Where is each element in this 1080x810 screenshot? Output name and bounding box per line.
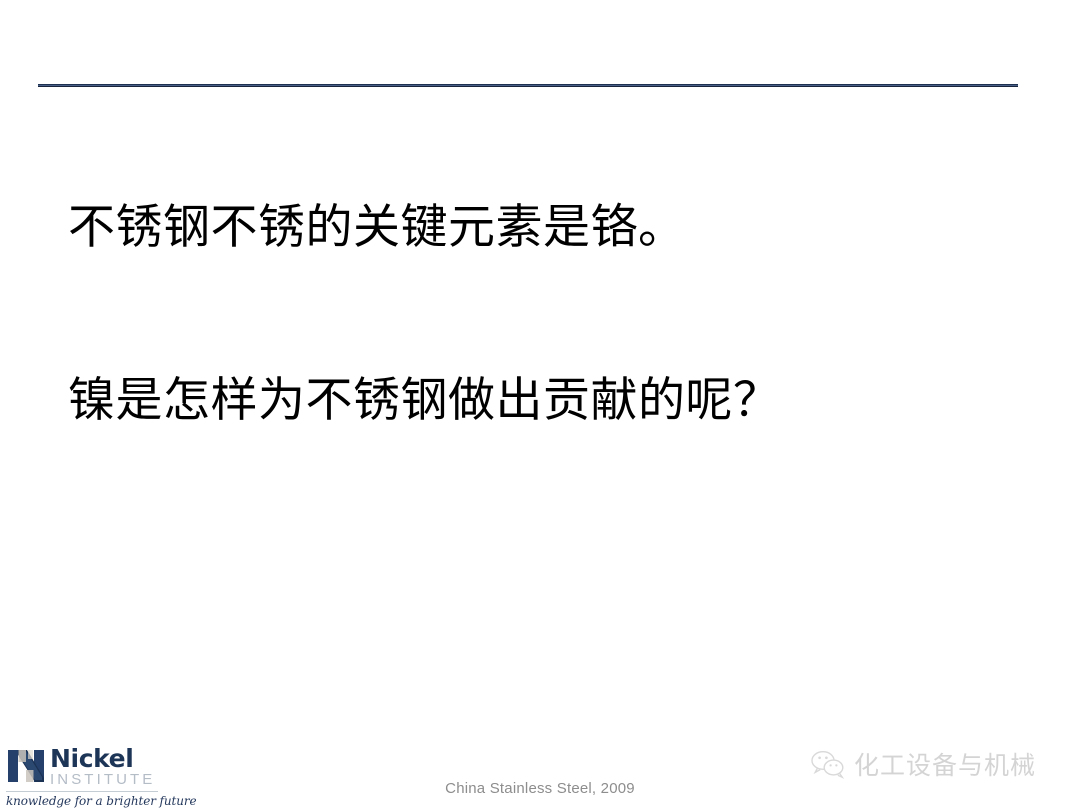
logo-wordmark: Nickel INSTITUTE [50,746,155,788]
body-line-spacer [68,255,1008,373]
slide-body-text: 不锈钢不锈的关键元素是铬。 镍是怎样为不锈钢做出贡献的呢？ [68,200,1008,429]
logo-name: Nickel [50,747,155,771]
wechat-watermark: 化工设备与机械 [810,746,1036,782]
slide-canvas: 不锈钢不锈的关键元素是铬。 镍是怎样为不锈钢做出贡献的呢？ China Stai… [0,0,1080,810]
logo-tagline: knowledge for a brighter future [6,794,166,808]
wechat-account-name: 化工设备与机械 [854,746,1036,782]
wechat-icon [810,749,846,779]
body-line-2: 镍是怎样为不锈钢做出贡献的呢？ [68,373,1008,428]
nickel-n-monogram-icon [6,746,46,786]
logo-divider-rule [6,791,158,792]
nickel-institute-logo: Nickel INSTITUTE knowledge for a brighte… [6,746,166,808]
logo-top-row: Nickel INSTITUTE [6,746,166,788]
logo-subtitle: INSTITUTE [50,772,155,788]
body-line-1: 不锈钢不锈的关键元素是铬。 [68,200,1008,255]
header-divider-rule [38,84,1018,87]
